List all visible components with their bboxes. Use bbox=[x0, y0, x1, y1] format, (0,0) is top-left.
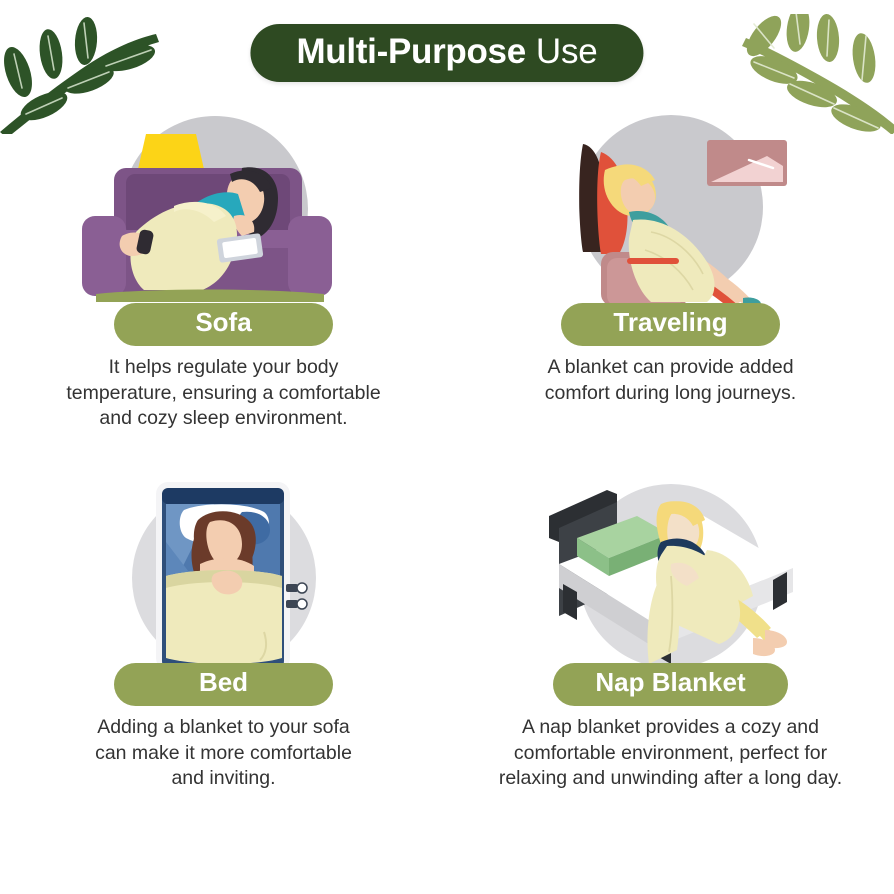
sofa-illustration bbox=[74, 112, 374, 307]
card-description-traveling: A blanket can provide added comfort duri… bbox=[545, 355, 796, 406]
feature-card-grid: Sofa It helps regulate your body tempera… bbox=[0, 112, 894, 792]
card-description-bed: Adding a blanket to your sofa can make i… bbox=[95, 715, 352, 792]
page-title-bold: Multi-Purpose bbox=[296, 34, 525, 69]
feature-card-bed: Bed Adding a blanket to your sofa can ma… bbox=[0, 472, 447, 792]
page-title-banner: Multi-Purpose Use bbox=[250, 24, 643, 82]
card-description-nap-blanket: A nap blanket provides a cozy and comfor… bbox=[499, 715, 842, 792]
feature-card-sofa: Sofa It helps regulate your body tempera… bbox=[0, 112, 447, 432]
card-label-traveling: Traveling bbox=[561, 303, 780, 346]
card-description-sofa: It helps regulate your body temperature,… bbox=[66, 355, 380, 432]
card-label-nap-blanket: Nap Blanket bbox=[553, 663, 787, 706]
feature-card-traveling: Traveling A blanket can provide added co… bbox=[447, 112, 894, 432]
feature-card-nap-blanket: Nap Blanket A nap blanket provides a coz… bbox=[447, 472, 894, 792]
page-title-light: Use bbox=[536, 34, 598, 69]
nap-blanket-illustration bbox=[521, 472, 821, 667]
card-label-bed: Bed bbox=[114, 663, 333, 706]
card-label-sofa: Sofa bbox=[114, 303, 333, 346]
bed-illustration bbox=[74, 472, 374, 667]
traveling-illustration bbox=[521, 112, 821, 307]
